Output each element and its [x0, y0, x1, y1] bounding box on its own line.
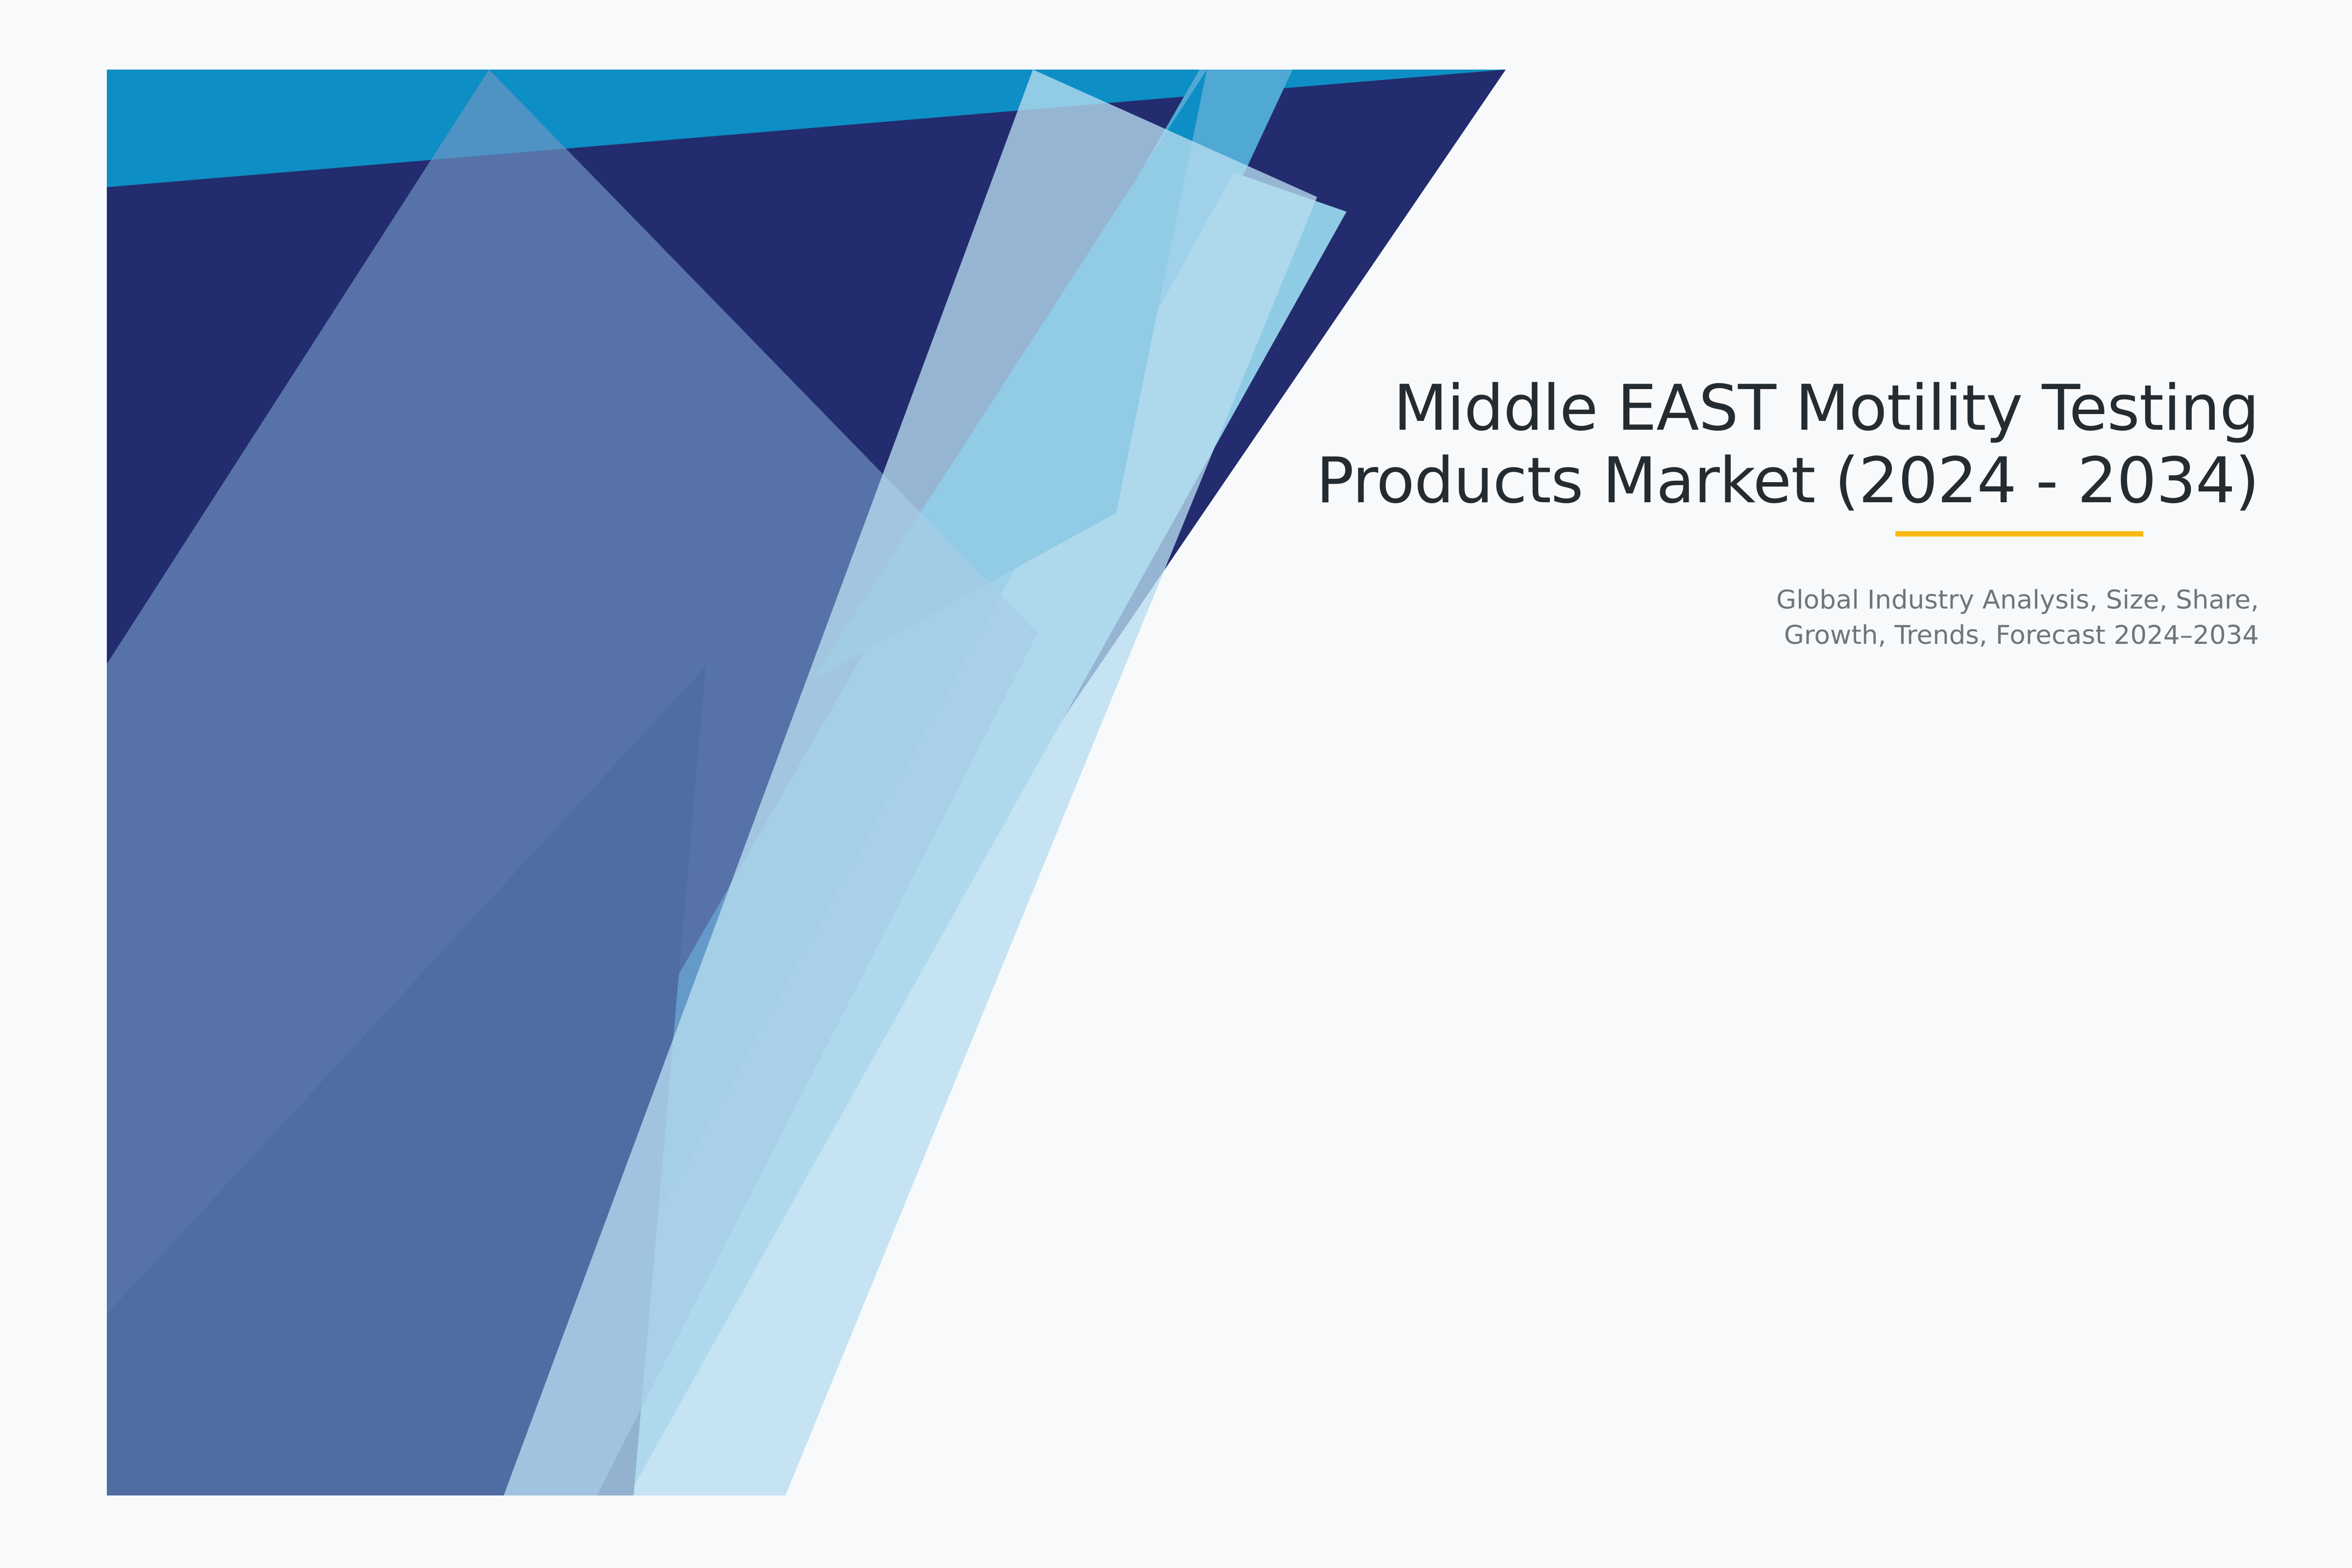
page-title: Middle EAST Motility Testing Products Ma…: [1068, 372, 2259, 518]
title-accent-underline: [1895, 531, 2143, 537]
cover-text-block: Middle EAST Motility Testing Products Ma…: [1068, 372, 2259, 653]
artwork-svg: [107, 70, 1508, 1495]
page-subtitle: Global Industry Analysis, Size, Share, G…: [1068, 583, 2259, 653]
abstract-geometric-cover-graphic: [107, 70, 1508, 1495]
cover-page: Middle EAST Motility Testing Products Ma…: [0, 0, 2352, 1568]
